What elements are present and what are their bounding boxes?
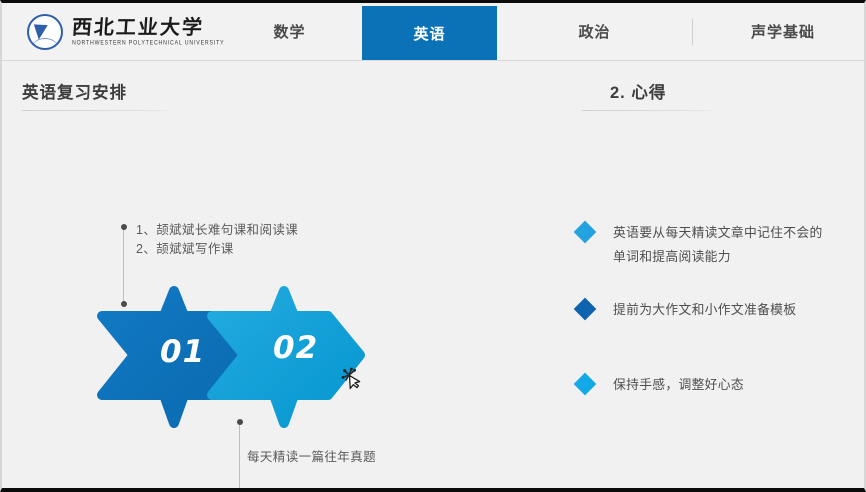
insight-bullet-2: 提前为大作文和小作文准备模板 bbox=[577, 298, 796, 322]
right-title-underline bbox=[582, 110, 713, 111]
presentation-window: 西北工业大学 NORTHWESTERN POLYTECHNICAL UNIVER… bbox=[0, 0, 866, 492]
course-header: 西北工业大学 NORTHWESTERN POLYTECHNICAL UNIVER… bbox=[2, 3, 864, 61]
step-arrows-svg bbox=[92, 283, 392, 428]
connector-dot-top bbox=[121, 224, 127, 230]
tab-acoustics-basics[interactable]: 声学基础 bbox=[693, 3, 866, 60]
insight-bullet-1: 英语要从每天精读文章中记住不会的 单词和提高阅读能力 bbox=[577, 221, 823, 268]
insight-bullet-3-text: 保持手感，调整好心态 bbox=[613, 373, 744, 397]
tab-english[interactable]: 英语 bbox=[362, 6, 497, 60]
left-note-line-1: 1、颉斌斌长难句课和阅读课 bbox=[136, 221, 298, 240]
university-name-cn: 西北工业大学 bbox=[71, 17, 225, 38]
left-note-bottom: 每天精读一篇往年真题 bbox=[247, 448, 376, 467]
connector-line-bottom bbox=[239, 422, 240, 492]
left-section-title: 英语复习安排 bbox=[22, 79, 127, 103]
step-arrow-01[interactable] bbox=[102, 291, 250, 423]
insight-bullet-3: 保持手感，调整好心态 bbox=[577, 373, 744, 397]
step-arrows-group: 01 02 bbox=[92, 283, 392, 428]
left-title-underline bbox=[22, 110, 169, 111]
left-note-line-2: 2、颉斌斌写作课 bbox=[136, 240, 298, 259]
university-seal-icon bbox=[27, 14, 63, 50]
university-name-block: 西北工业大学 NORTHWESTERN POLYTECHNICAL UNIVER… bbox=[72, 17, 224, 46]
insight-bullet-1-line-1: 英语要从每天精读文章中记住不会的 bbox=[613, 225, 823, 240]
slide-canvas: 英语复习安排 2. 心得 1、颉斌斌长难句课和阅读课 2、颉斌斌写作课 每天精读… bbox=[2, 61, 864, 489]
insight-bullet-2-text: 提前为大作文和小作文准备模板 bbox=[613, 298, 796, 322]
tab-politics[interactable]: 政治 bbox=[497, 3, 692, 60]
university-brand: 西北工业大学 NORTHWESTERN POLYTECHNICAL UNIVER… bbox=[2, 3, 217, 60]
left-note-top: 1、颉斌斌长难句课和阅读课 2、颉斌斌写作课 bbox=[136, 221, 298, 260]
right-section-title: 2. 心得 bbox=[610, 79, 666, 103]
subject-tabs: 数学 英语 政治 声学基础 bbox=[217, 3, 866, 60]
insight-bullet-1-line-2: 单词和提高阅读能力 bbox=[613, 249, 731, 264]
diamond-icon bbox=[574, 373, 597, 396]
insight-bullet-1-text: 英语要从每天精读文章中记住不会的 单词和提高阅读能力 bbox=[613, 221, 823, 268]
tab-math[interactable]: 数学 bbox=[217, 3, 362, 60]
university-name-en: NORTHWESTERN POLYTECHNICAL UNIVERSITY bbox=[72, 39, 224, 47]
diamond-icon bbox=[574, 221, 597, 244]
diamond-icon bbox=[574, 298, 597, 321]
